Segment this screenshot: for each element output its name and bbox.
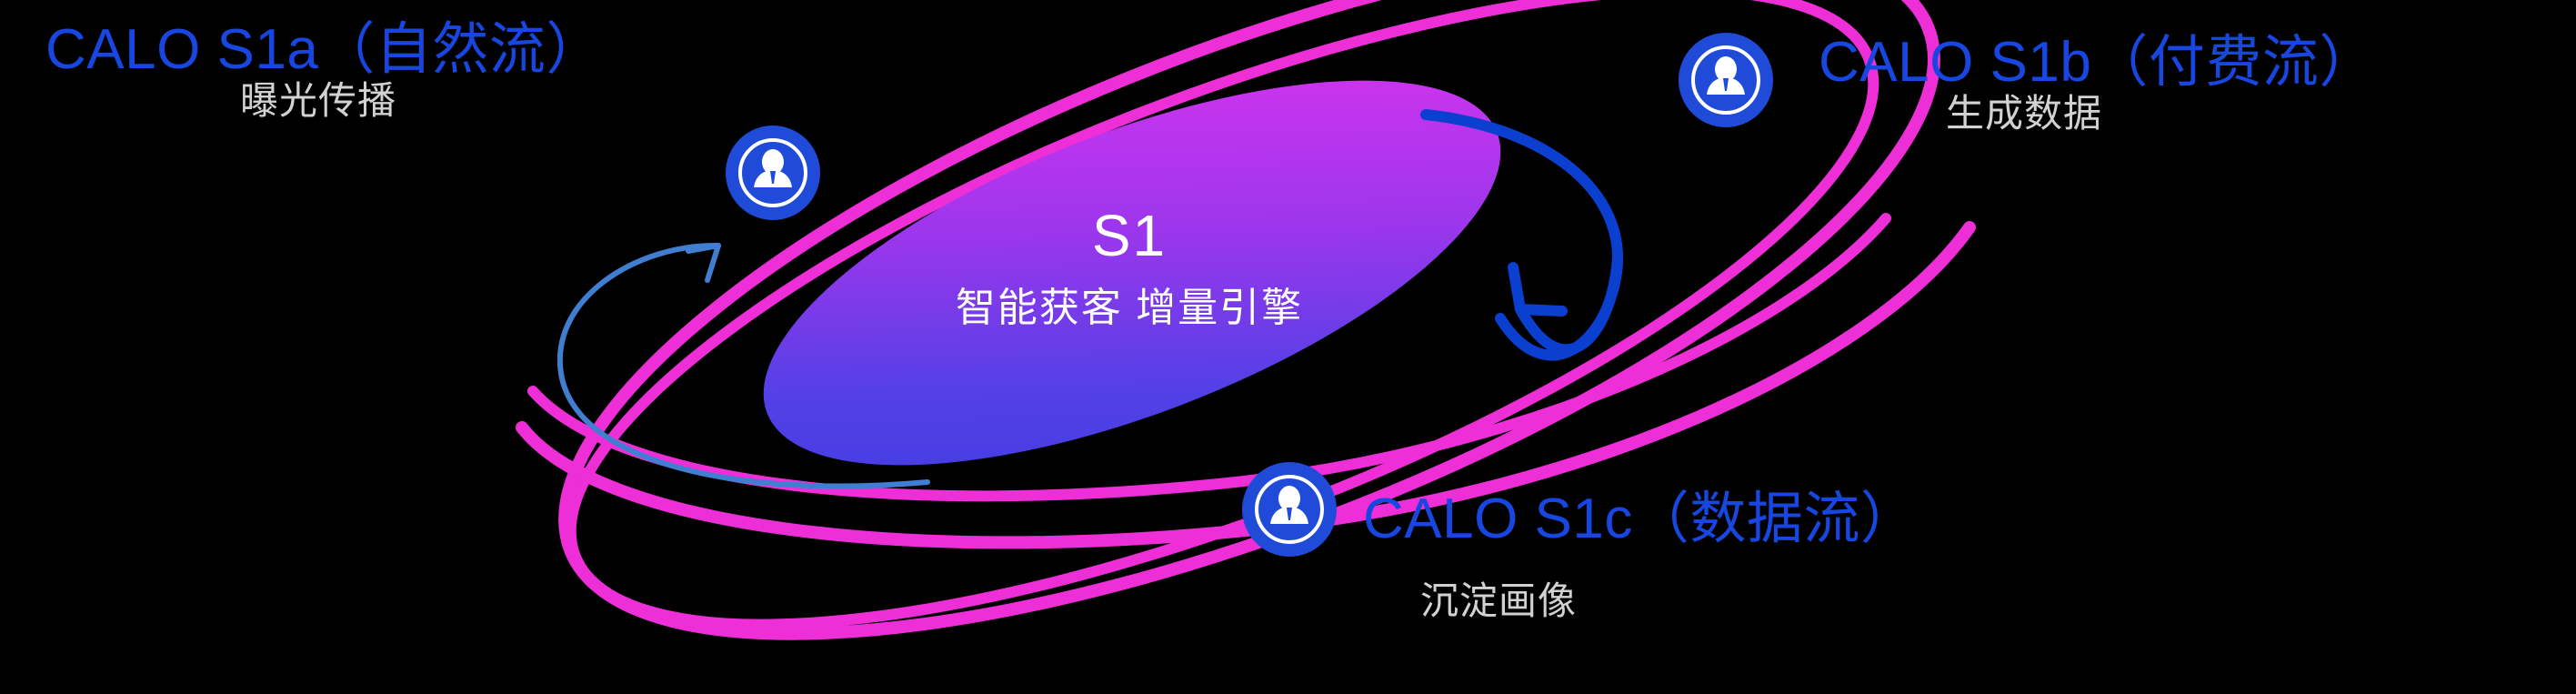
badge-node-s1b[interactable]	[1679, 33, 1773, 127]
badge-node-s1a[interactable]	[726, 126, 820, 220]
diagram-canvas: S1 智能获客 增量引擎 CALO S1a（自然流） 曝光传播 CALO S1b…	[0, 0, 2576, 694]
orbit-diagram-graphic	[0, 0, 2576, 694]
badge-node-s1c[interactable]	[1242, 462, 1337, 557]
